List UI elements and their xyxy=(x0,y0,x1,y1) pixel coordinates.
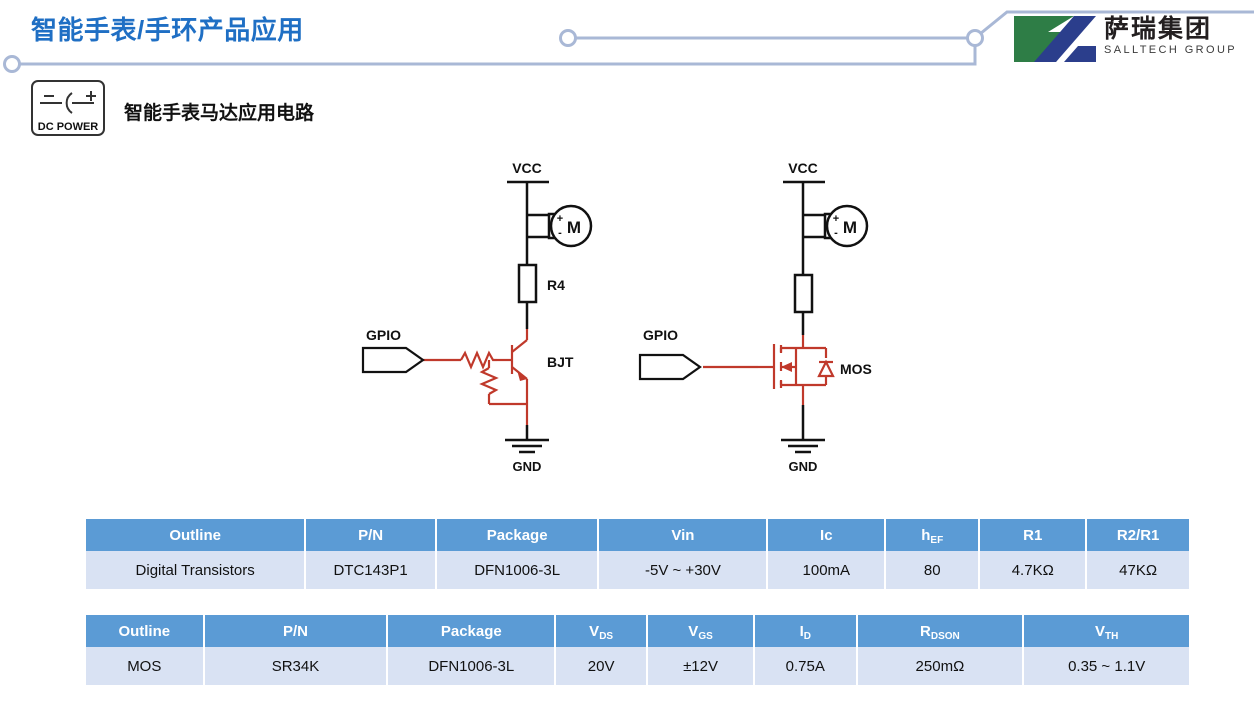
bjt-circuit: VCC + - M R4 xyxy=(363,160,591,474)
table-data-cell: 0.35 ~ 1.1V xyxy=(1023,647,1189,685)
bjt-gnd-label: GND xyxy=(513,459,542,474)
spec-table-mos: OutlineP/NPackageVDSVGSIDRDSONVTH MOSSR3… xyxy=(86,615,1189,685)
page-title: 智能手表/手环产品应用 xyxy=(31,10,304,47)
table-data-cell: DFN1006-3L xyxy=(436,551,599,589)
bjt-resistor-r4 xyxy=(519,265,536,302)
table-row: MOSSR34KDFN1006-3L20V±12V0.75A250mΩ0.35 … xyxy=(86,647,1189,685)
table-header-row: OutlineP/NPackageVinIchEFR1R2/R1 xyxy=(86,519,1189,551)
bjt-motor-plus: + xyxy=(557,213,563,225)
circuit-diagrams: VCC + - M R4 xyxy=(0,140,1254,500)
table-header-cell: VTH xyxy=(1023,615,1189,647)
logo-name-en: SALLTECH GROUP xyxy=(1104,44,1244,57)
table-data-cell: -5V ~ +30V xyxy=(598,551,767,589)
bjt-motor-label: M xyxy=(567,218,581,237)
bjt-gpio-label: GPIO xyxy=(366,327,401,343)
bjt-vcc-label: VCC xyxy=(512,160,542,176)
table-header-cell: Outline xyxy=(86,519,305,551)
table-header-cell: P/N xyxy=(204,615,388,647)
table-data-cell: ±12V xyxy=(647,647,754,685)
table-header-cell: P/N xyxy=(305,519,436,551)
table-header-cell: Ic xyxy=(767,519,885,551)
table-header-cell: Package xyxy=(436,519,599,551)
dc-power-icon-label: DC POWER xyxy=(38,121,99,133)
table-data-cell: 0.75A xyxy=(754,647,857,685)
dc-power-icon: DC POWER xyxy=(30,79,106,137)
section-subtitle: 智能手表马达应用电路 xyxy=(124,98,314,125)
bjt-device-label: BJT xyxy=(547,354,574,370)
mos-motor-label: M xyxy=(843,218,857,237)
mos-gpio-pennant xyxy=(640,355,700,379)
mos-resistor xyxy=(795,275,812,312)
table-header-cell: ID xyxy=(754,615,857,647)
mos-circuit: VCC + - M xyxy=(640,160,872,474)
bjt-motor-minus: - xyxy=(558,227,562,239)
mos-motor-minus: - xyxy=(834,227,838,239)
table-header-subscript: DS xyxy=(599,631,613,642)
mos-vcc-label: VCC xyxy=(788,160,818,176)
mos-motor-plus: + xyxy=(833,213,839,225)
table-data-cell: MOS xyxy=(86,647,204,685)
deco-circle-left xyxy=(5,57,20,72)
table-data-cell: DFN1006-3L xyxy=(387,647,555,685)
table-header-subscript: DSON xyxy=(931,631,960,642)
table-header-cell: Vin xyxy=(598,519,767,551)
table-header-subscript: D xyxy=(804,631,811,642)
deco-circle-middle xyxy=(561,31,576,46)
table-header-cell: Package xyxy=(387,615,555,647)
table-data-cell: DTC143P1 xyxy=(305,551,436,589)
table-row: Digital TransistorsDTC143P1DFN1006-3L-5V… xyxy=(86,551,1189,589)
logo-name-cn: 萨瑞集团 xyxy=(1104,14,1244,44)
mos-transistor-symbol xyxy=(703,335,833,405)
spec-table-digital-transistors: OutlineP/NPackageVinIchEFR1R2/R1 Digital… xyxy=(86,519,1189,589)
table-data-cell: 20V xyxy=(555,647,647,685)
table-data-cell: 4.7KΩ xyxy=(979,551,1086,589)
table-header-cell: VDS xyxy=(555,615,647,647)
table-header-row: OutlineP/NPackageVDSVGSIDRDSONVTH xyxy=(86,615,1189,647)
table-data-cell: SR34K xyxy=(204,647,388,685)
table-header-cell: RDSON xyxy=(857,615,1024,647)
bjt-gpio-pennant xyxy=(363,348,423,372)
mos-device-label: MOS xyxy=(840,361,872,377)
table-header-cell: R2/R1 xyxy=(1086,519,1189,551)
mos-gnd-label: GND xyxy=(789,459,818,474)
table-header-subscript: TH xyxy=(1105,631,1118,642)
bjt-resistor-label: R4 xyxy=(547,277,565,293)
table-data-cell: Digital Transistors xyxy=(86,551,305,589)
table-data-cell: 47KΩ xyxy=(1086,551,1189,589)
table-header-cell: hEF xyxy=(885,519,979,551)
table-data-cell: 100mA xyxy=(767,551,885,589)
table-data-cell: 80 xyxy=(885,551,979,589)
table-header-cell: Outline xyxy=(86,615,204,647)
deco-circle-right xyxy=(968,31,983,46)
table-header-cell: R1 xyxy=(979,519,1086,551)
table-header-subscript: GS xyxy=(698,631,712,642)
mos-ground-symbol xyxy=(781,440,825,452)
logo-mark-icon xyxy=(1012,16,1096,62)
table-header-subscript: EF xyxy=(930,535,943,546)
bjt-transistor-symbol xyxy=(420,329,527,425)
table-data-cell: 250mΩ xyxy=(857,647,1024,685)
bjt-ground-symbol xyxy=(505,440,549,452)
table-header-cell: VGS xyxy=(647,615,754,647)
mos-gpio-label: GPIO xyxy=(643,327,678,343)
company-logo: 萨瑞集团 SALLTECH GROUP xyxy=(1012,14,1244,66)
